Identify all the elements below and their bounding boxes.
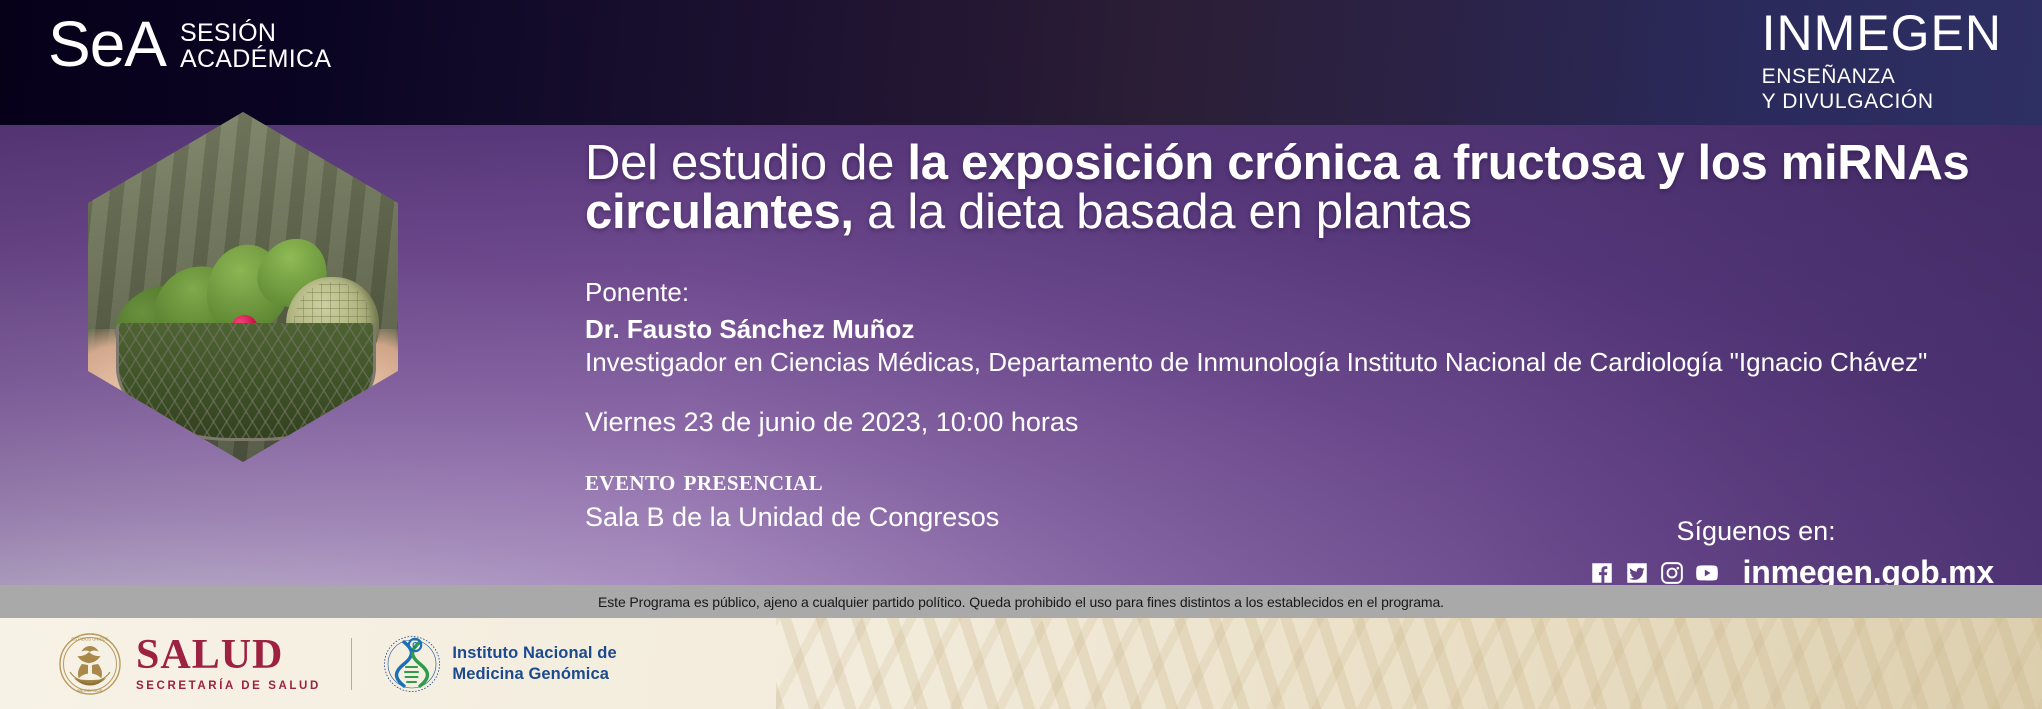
sea-logo-line1: SESIÓN [180, 20, 331, 46]
salud-word: SALUD [136, 635, 321, 676]
social-label: Síguenos en: [1677, 516, 1994, 547]
salud-wordmark: SALUD SECRETARÍA DE SALUD [136, 635, 321, 692]
title-part-pre: Del estudio de [585, 136, 907, 190]
speaker-label: Ponente: [585, 277, 2022, 308]
sea-logo-subtitle: SESIÓN ACADÉMICA [180, 12, 331, 72]
event-datetime: Viernes 23 de junio de 2023, 10:00 horas [585, 407, 2022, 438]
footer-divider [351, 638, 353, 690]
inmegen-footer-text: Instituto Nacional de Medicina Genómica [452, 643, 616, 684]
speaker-affiliation: Investigador en Ciencias Médicas, Depart… [585, 347, 1955, 377]
event-modality: Evento presencial [585, 464, 2022, 498]
inmegen-wordmark: INMEGEN [1762, 8, 2002, 58]
speaker-name: Dr. Fausto Sánchez Muñoz [585, 314, 2022, 345]
disclaimer-text: Este Programa es público, ajeno a cualqu… [598, 594, 1444, 610]
sea-logo-mark: SeA [48, 12, 166, 76]
dna-helix-icon: C [382, 634, 442, 694]
event-poster: SeA SESIÓN ACADÉMICA INMEGEN ENSEÑANZA Y… [0, 0, 2042, 709]
footer-watermark-pattern [776, 618, 2042, 709]
salud-subtitle: SECRETARÍA DE SALUD [136, 680, 321, 692]
facebook-icon[interactable] [1589, 560, 1615, 586]
title-part-post: a la dieta basada en plantas [854, 185, 1472, 239]
inmegen-header-logo: INMEGEN ENSEÑANZA Y DIVULGACIÓN [1762, 8, 2002, 115]
inmegen-footer-logo: C Instituto Nacional de Medicina Genómic… [382, 634, 616, 694]
youtube-icon[interactable] [1694, 560, 1720, 586]
mexico-coat-of-arms-icon: ESTADOS UNIDOS MEXICANOS [58, 632, 122, 696]
footer-logos: ESTADOS UNIDOS MEXICANOS SALUD SECRETARÍ… [58, 618, 617, 709]
inmegen-footer-line2: Medicina Genómica [452, 664, 616, 684]
social-block: Síguenos en: inmegen.gob.mx [1589, 516, 1994, 591]
twitter-icon[interactable] [1624, 560, 1650, 586]
svg-text:MEXICANOS: MEXICANOS [77, 688, 102, 693]
main-content: Del estudio de la exposición crónica a f… [585, 126, 2022, 533]
inmegen-tagline-line2: Y DIVULGACIÓN [1762, 90, 2002, 115]
instagram-icon[interactable] [1659, 560, 1685, 586]
disclaimer-strip: Este Programa es público, ajeno a cualqu… [0, 585, 2042, 618]
svg-text:C: C [412, 641, 418, 650]
inmegen-tagline-line1: ENSEÑANZA [1762, 65, 2002, 90]
inmegen-footer-line1: Instituto Nacional de [452, 643, 616, 663]
page-title: Del estudio de la exposición crónica a f… [585, 126, 2022, 238]
svg-text:ESTADOS UNIDOS: ESTADOS UNIDOS [71, 636, 108, 641]
sea-logo-line2: ACADÉMICA [180, 46, 331, 72]
footer-bar: ESTADOS UNIDOS MEXICANOS SALUD SECRETARÍ… [0, 618, 2042, 709]
sea-logo: SeA SESIÓN ACADÉMICA [48, 12, 331, 76]
